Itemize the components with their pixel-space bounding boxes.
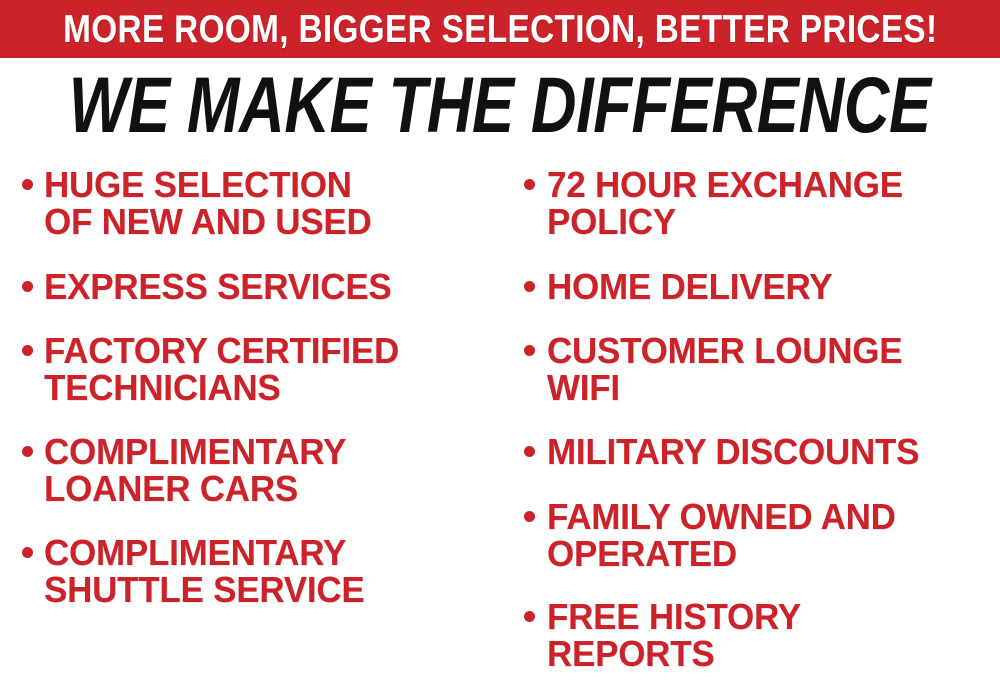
list-item-label: COMPLIMENTARY SHUTTLE SERVICE xyxy=(44,534,364,608)
bullet-dot-icon xyxy=(524,179,535,190)
promo-banner: MORE ROOM, BIGGER SELECTION, BETTER PRIC… xyxy=(0,0,1000,58)
list-item-label: COMPLIMENTARY LOANER CARS xyxy=(44,433,346,507)
list-item-label: EXPRESS SERVICES xyxy=(44,268,392,305)
list-item: MILITARY DISCOUNTS xyxy=(524,433,1000,470)
list-item: HUGE SELECTION OF NEW AND USED xyxy=(22,166,500,240)
list-item: EXPRESS SERVICES xyxy=(22,268,500,305)
bullet-dot-icon xyxy=(22,345,33,356)
bullet-dot-icon xyxy=(22,281,33,292)
list-item: COMPLIMENTARY LOANER CARS xyxy=(22,433,500,507)
bullet-dot-icon xyxy=(524,611,535,622)
bullet-dot-icon xyxy=(524,511,535,522)
bullet-dot-icon xyxy=(22,547,33,558)
advertisement-banner: MORE ROOM, BIGGER SELECTION, BETTER PRIC… xyxy=(0,0,1000,694)
headline-container: WE MAKE THE DIFFERENCE xyxy=(0,62,1000,146)
list-item: FREE HISTORY REPORTS xyxy=(524,598,1000,672)
list-item: 72 HOUR EXCHANGE POLICY xyxy=(524,166,1000,240)
list-item-label: MILITARY DISCOUNTS xyxy=(547,433,919,470)
promo-banner-text: MORE ROOM, BIGGER SELECTION, BETTER PRIC… xyxy=(63,10,937,49)
list-item-label: CUSTOMER LOUNGE WIFI xyxy=(547,332,902,406)
bullet-dot-icon xyxy=(22,446,33,457)
list-item-label: FACTORY CERTIFIED TECHNICIANS xyxy=(44,332,399,406)
page-title: WE MAKE THE DIFFERENCE xyxy=(69,65,931,144)
list-item: HOME DELIVERY xyxy=(524,268,1000,305)
bullet-dot-icon xyxy=(22,179,33,190)
list-item-label: HUGE SELECTION OF NEW AND USED xyxy=(44,166,372,240)
list-item: COMPLIMENTARY SHUTTLE SERVICE xyxy=(22,534,500,608)
benefits-right-column: 72 HOUR EXCHANGE POLICY HOME DELIVERY CU… xyxy=(500,158,1000,694)
benefits-columns: HUGE SELECTION OF NEW AND USED EXPRESS S… xyxy=(0,158,1000,694)
list-item-label: 72 HOUR EXCHANGE POLICY xyxy=(547,166,903,240)
list-item: FAMILY OWNED AND OPERATED xyxy=(524,498,1000,572)
list-item: FACTORY CERTIFIED TECHNICIANS xyxy=(22,332,500,406)
list-item-label: FREE HISTORY REPORTS xyxy=(547,598,801,672)
benefits-left-column: HUGE SELECTION OF NEW AND USED EXPRESS S… xyxy=(0,158,500,694)
bullet-dot-icon xyxy=(524,345,535,356)
bullet-dot-icon xyxy=(524,446,535,457)
list-item-label: FAMILY OWNED AND OPERATED xyxy=(547,498,896,572)
bullet-dot-icon xyxy=(524,281,535,292)
list-item-label: HOME DELIVERY xyxy=(547,268,832,305)
list-item: CUSTOMER LOUNGE WIFI xyxy=(524,332,1000,406)
